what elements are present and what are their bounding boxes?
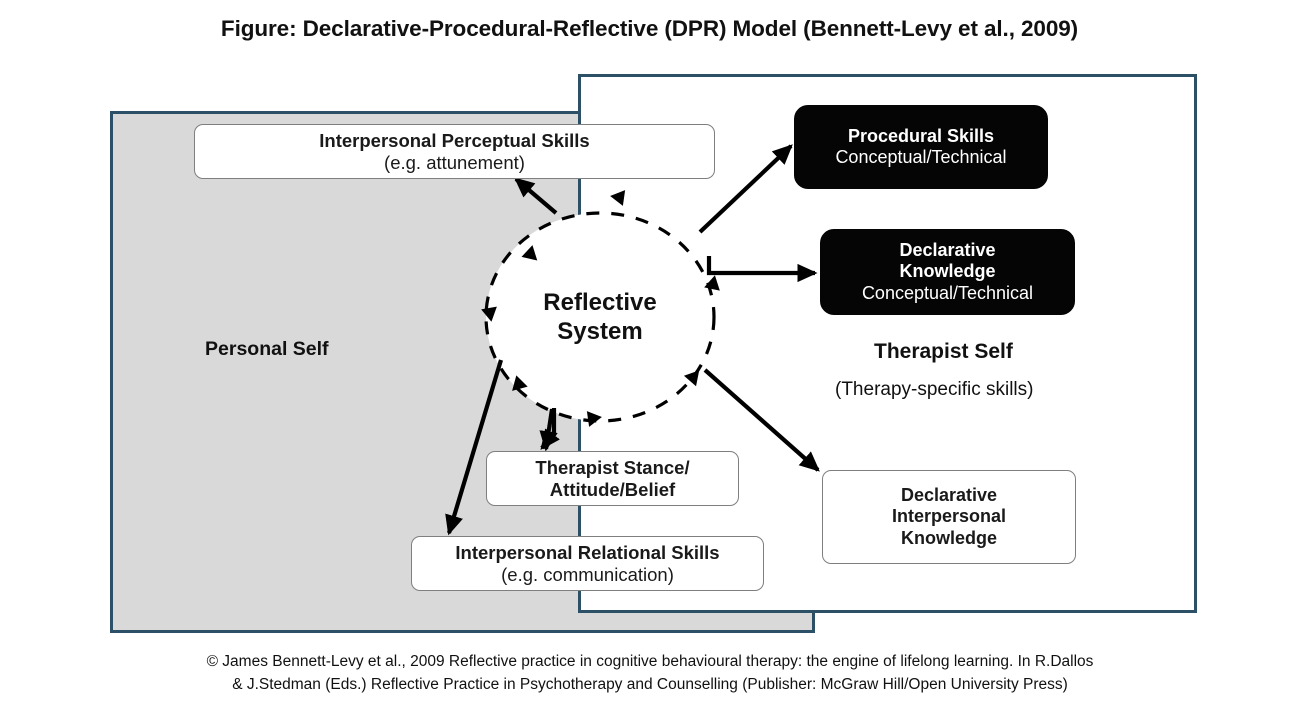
node-procedural-skills[interactable]: Procedural Skills Conceptual/Technical bbox=[794, 105, 1048, 189]
node-interpersonal-relational-skills[interactable]: Interpersonal Relational Skills (e.g. co… bbox=[411, 536, 764, 591]
node-title: Declarative bbox=[901, 485, 997, 506]
node-title-3: Knowledge bbox=[901, 528, 997, 549]
node-title-2: Knowledge bbox=[899, 261, 995, 282]
personal-self-label: Personal Self bbox=[205, 338, 329, 361]
reflective-system-line2: System bbox=[557, 317, 642, 346]
node-declarative-knowledge[interactable]: Declarative Knowledge Conceptual/Technic… bbox=[820, 229, 1075, 315]
caption-line-2: & J.Stedman (Eds.) Reflective Practice i… bbox=[60, 674, 1240, 697]
reflective-system-line1: Reflective bbox=[543, 288, 656, 317]
node-declarative-interpersonal-knowledge[interactable]: Declarative Interpersonal Knowledge bbox=[822, 470, 1076, 564]
therapist-self-label: Therapist Self bbox=[874, 340, 1013, 364]
node-therapist-stance[interactable]: Therapist Stance/ Attitude/Belief bbox=[486, 451, 739, 506]
node-title-2: Attitude/Belief bbox=[550, 479, 675, 501]
page-title: Figure: Declarative-Procedural-Reflectiv… bbox=[0, 16, 1299, 42]
figure-caption: © James Bennett-Levy et al., 2009 Reflec… bbox=[60, 651, 1240, 697]
node-subtitle: (e.g. communication) bbox=[501, 564, 674, 586]
reflective-system-node[interactable]: Reflective System bbox=[486, 213, 714, 421]
node-subtitle: (e.g. attunement) bbox=[384, 152, 525, 174]
node-title: Declarative bbox=[899, 240, 995, 261]
node-title-2: Interpersonal bbox=[892, 506, 1006, 527]
node-title: Interpersonal Perceptual Skills bbox=[319, 130, 589, 152]
node-title: Procedural Skills bbox=[848, 126, 994, 147]
node-title: Interpersonal Relational Skills bbox=[455, 542, 719, 564]
figure-canvas: Figure: Declarative-Procedural-Reflectiv… bbox=[0, 0, 1299, 728]
therapist-self-sublabel: (Therapy-specific skills) bbox=[835, 379, 1033, 401]
node-title: Therapist Stance/ bbox=[535, 457, 689, 479]
reflective-system-label: Reflective System bbox=[486, 213, 714, 421]
caption-line-1: © James Bennett-Levy et al., 2009 Reflec… bbox=[60, 651, 1240, 674]
node-subtitle: Conceptual/Technical bbox=[835, 147, 1006, 168]
node-subtitle: Conceptual/Technical bbox=[862, 283, 1033, 304]
node-interpersonal-perceptual-skills[interactable]: Interpersonal Perceptual Skills (e.g. at… bbox=[194, 124, 715, 179]
